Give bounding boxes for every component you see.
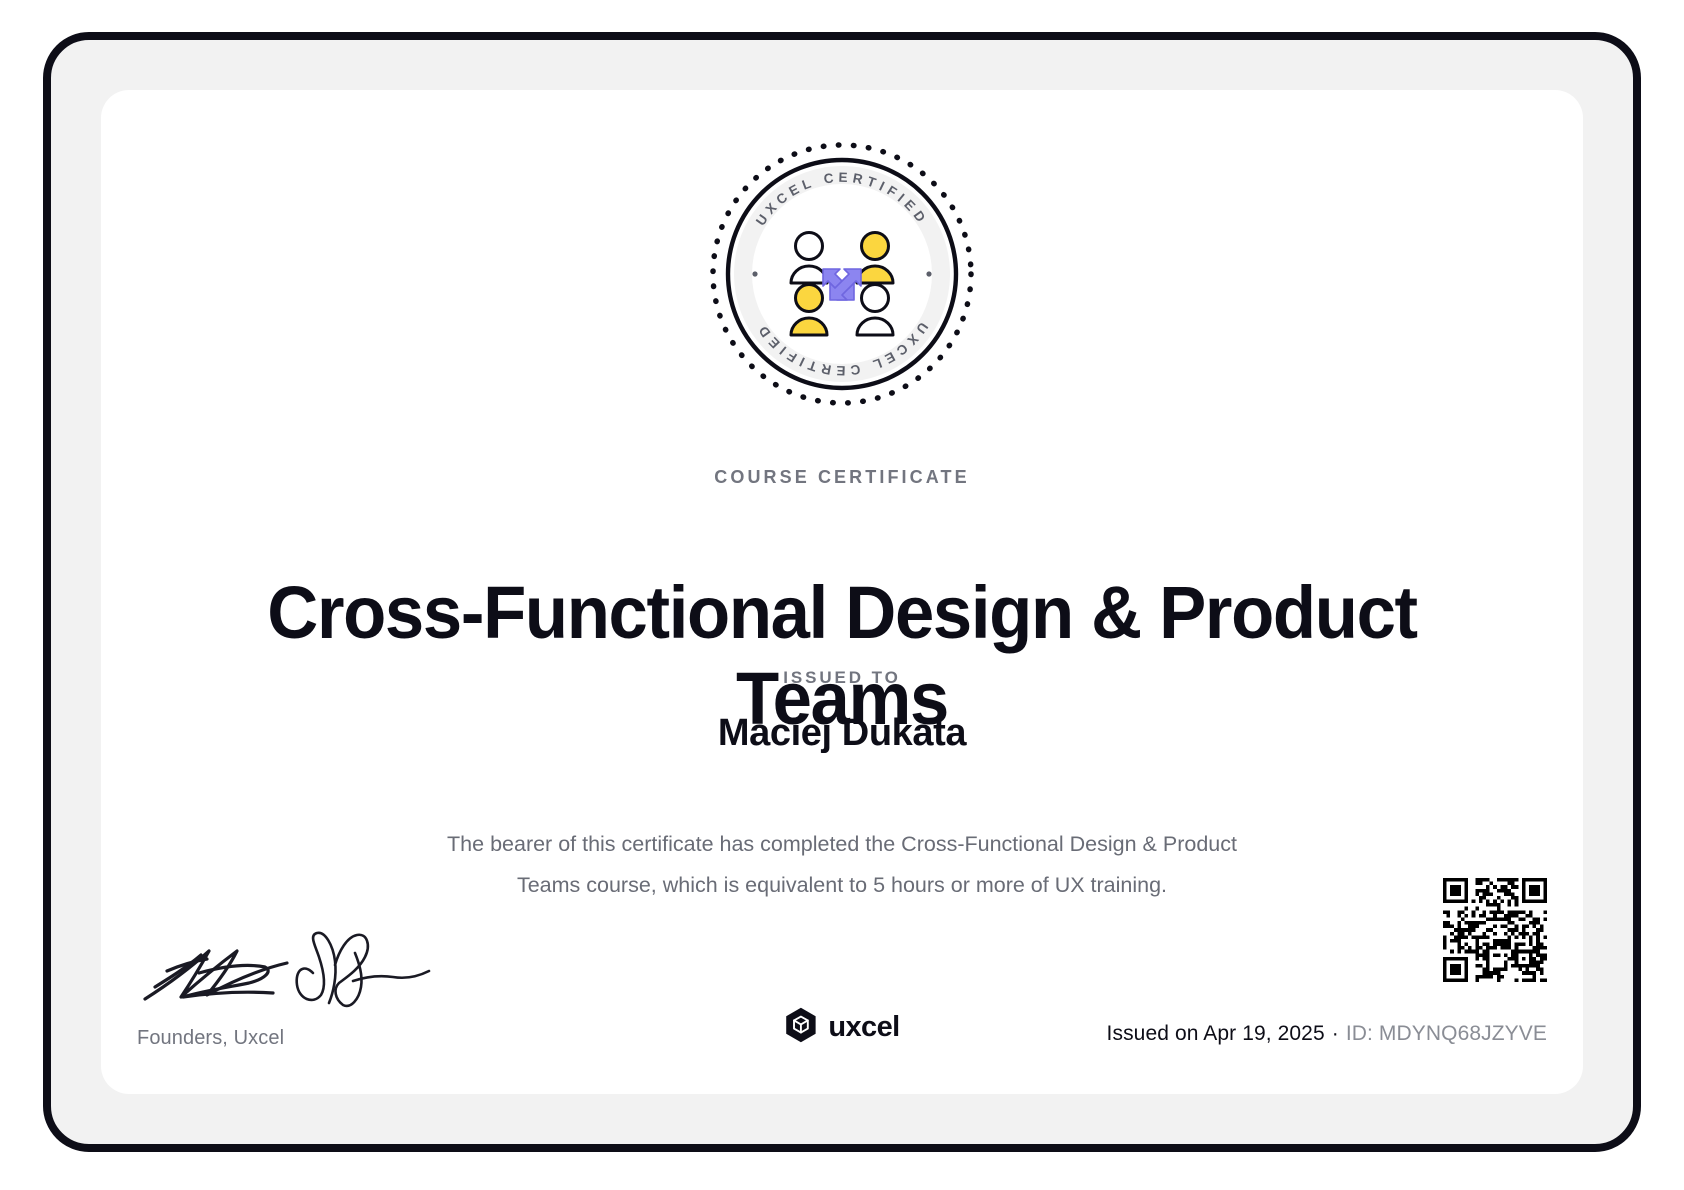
recipient-name: Maciej Dukata bbox=[101, 712, 1583, 755]
seal-dot-left bbox=[752, 271, 757, 276]
issued-to-label: ISSUED TO bbox=[101, 668, 1583, 688]
seal-dot-right bbox=[926, 271, 931, 276]
qr-code[interactable] bbox=[1443, 878, 1547, 982]
uxcel-logo: uxcel bbox=[784, 1007, 899, 1048]
certificate-frame: UXCEL CERTIFIED UXCEL CERTIFIED bbox=[43, 32, 1641, 1152]
uxcel-wordmark: uxcel bbox=[828, 1013, 899, 1042]
course-certificate-eyebrow: COURSE CERTIFICATE bbox=[101, 467, 1583, 488]
founders-label: Founders, Uxcel bbox=[137, 1027, 557, 1050]
signature-block: Founders, Uxcel bbox=[137, 929, 557, 1050]
certificate-card: UXCEL CERTIFIED UXCEL CERTIFIED bbox=[101, 90, 1583, 1094]
meta-separator: · bbox=[1325, 1022, 1346, 1045]
issuance-meta: Issued on Apr 19, 2025·ID: MDYNQ68JZYVE bbox=[1107, 1022, 1547, 1046]
founder-signature-1 bbox=[145, 951, 287, 999]
certification-seal-badge: UXCEL CERTIFIED UXCEL CERTIFIED bbox=[706, 138, 978, 410]
issued-on-date: Issued on Apr 19, 2025 bbox=[1107, 1022, 1325, 1045]
uxcel-cube-logo-icon bbox=[784, 1007, 817, 1048]
certificate-description: The bearer of this certificate has compl… bbox=[442, 824, 1242, 906]
certificate-id: ID: MDYNQ68JZYVE bbox=[1346, 1022, 1547, 1045]
founder-signature-2 bbox=[297, 933, 429, 1006]
signature-marks bbox=[137, 929, 557, 1015]
